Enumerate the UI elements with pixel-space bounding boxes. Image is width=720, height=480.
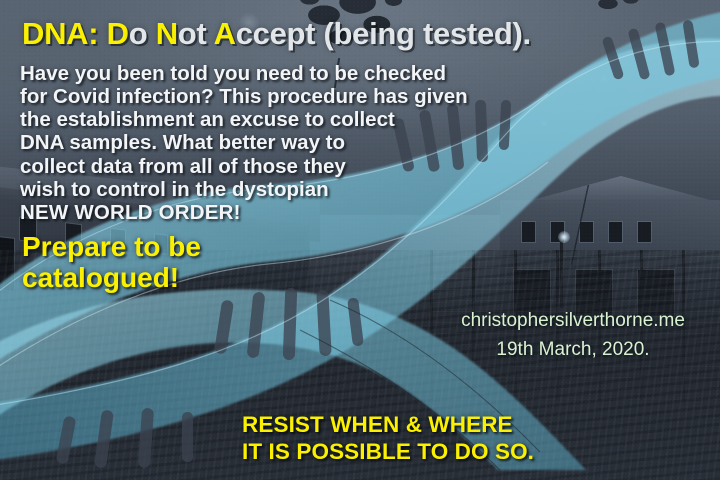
body-line-7-new-world-order: NEW WORLD ORDER! (20, 201, 580, 224)
body-copy: Have you been told you need to be checke… (20, 62, 580, 224)
headline-seg-dna: DNA: (22, 16, 98, 51)
headline-seg-n: N (156, 16, 178, 51)
attribution-block: christophersilverthorne.me 19th March, 2… (444, 306, 702, 365)
resist-callout: RESIST WHEN & WHERE IT IS POSSIBLE TO DO… (242, 411, 534, 465)
resist-line-1: RESIST WHEN & WHERE (242, 411, 534, 438)
body-line-1: Have you been told you need to be checke… (20, 62, 580, 85)
page-title: DNA: Do Not Accept (being tested). (22, 18, 531, 49)
headline-seg-d: D (107, 16, 129, 51)
headline-seg-o: o (129, 16, 148, 51)
headline-seg-a: A (214, 16, 236, 51)
body-line-3: the establishment an excuse to collect (20, 108, 580, 131)
prepare-callout: Prepare to be catalogued! (22, 231, 201, 294)
publication-date: 19th March, 2020. (444, 335, 702, 364)
prepare-line-1: Prepare to be (22, 231, 201, 262)
resist-line-2: IT IS POSSIBLE TO DO SO. (242, 438, 534, 465)
headline-seg-rest: ccept (being tested). (236, 16, 531, 51)
body-line-6: wish to control in the dystopian (20, 178, 580, 201)
body-line-4: DNA samples. What better way to (20, 131, 580, 154)
website-url[interactable]: christophersilverthorne.me (461, 310, 685, 331)
poster-canvas: DNA: Do Not Accept (being tested). Have … (0, 0, 720, 480)
headline-seg-ot: ot (178, 16, 207, 51)
headline-space-3 (206, 16, 213, 51)
headline-space (98, 16, 106, 51)
body-line-2: for Covid infection? This procedure has … (20, 85, 580, 108)
headline-space-2 (147, 16, 155, 51)
body-line-5: collect data from all of those they (20, 155, 580, 178)
prepare-line-2: catalogued! (22, 262, 201, 293)
